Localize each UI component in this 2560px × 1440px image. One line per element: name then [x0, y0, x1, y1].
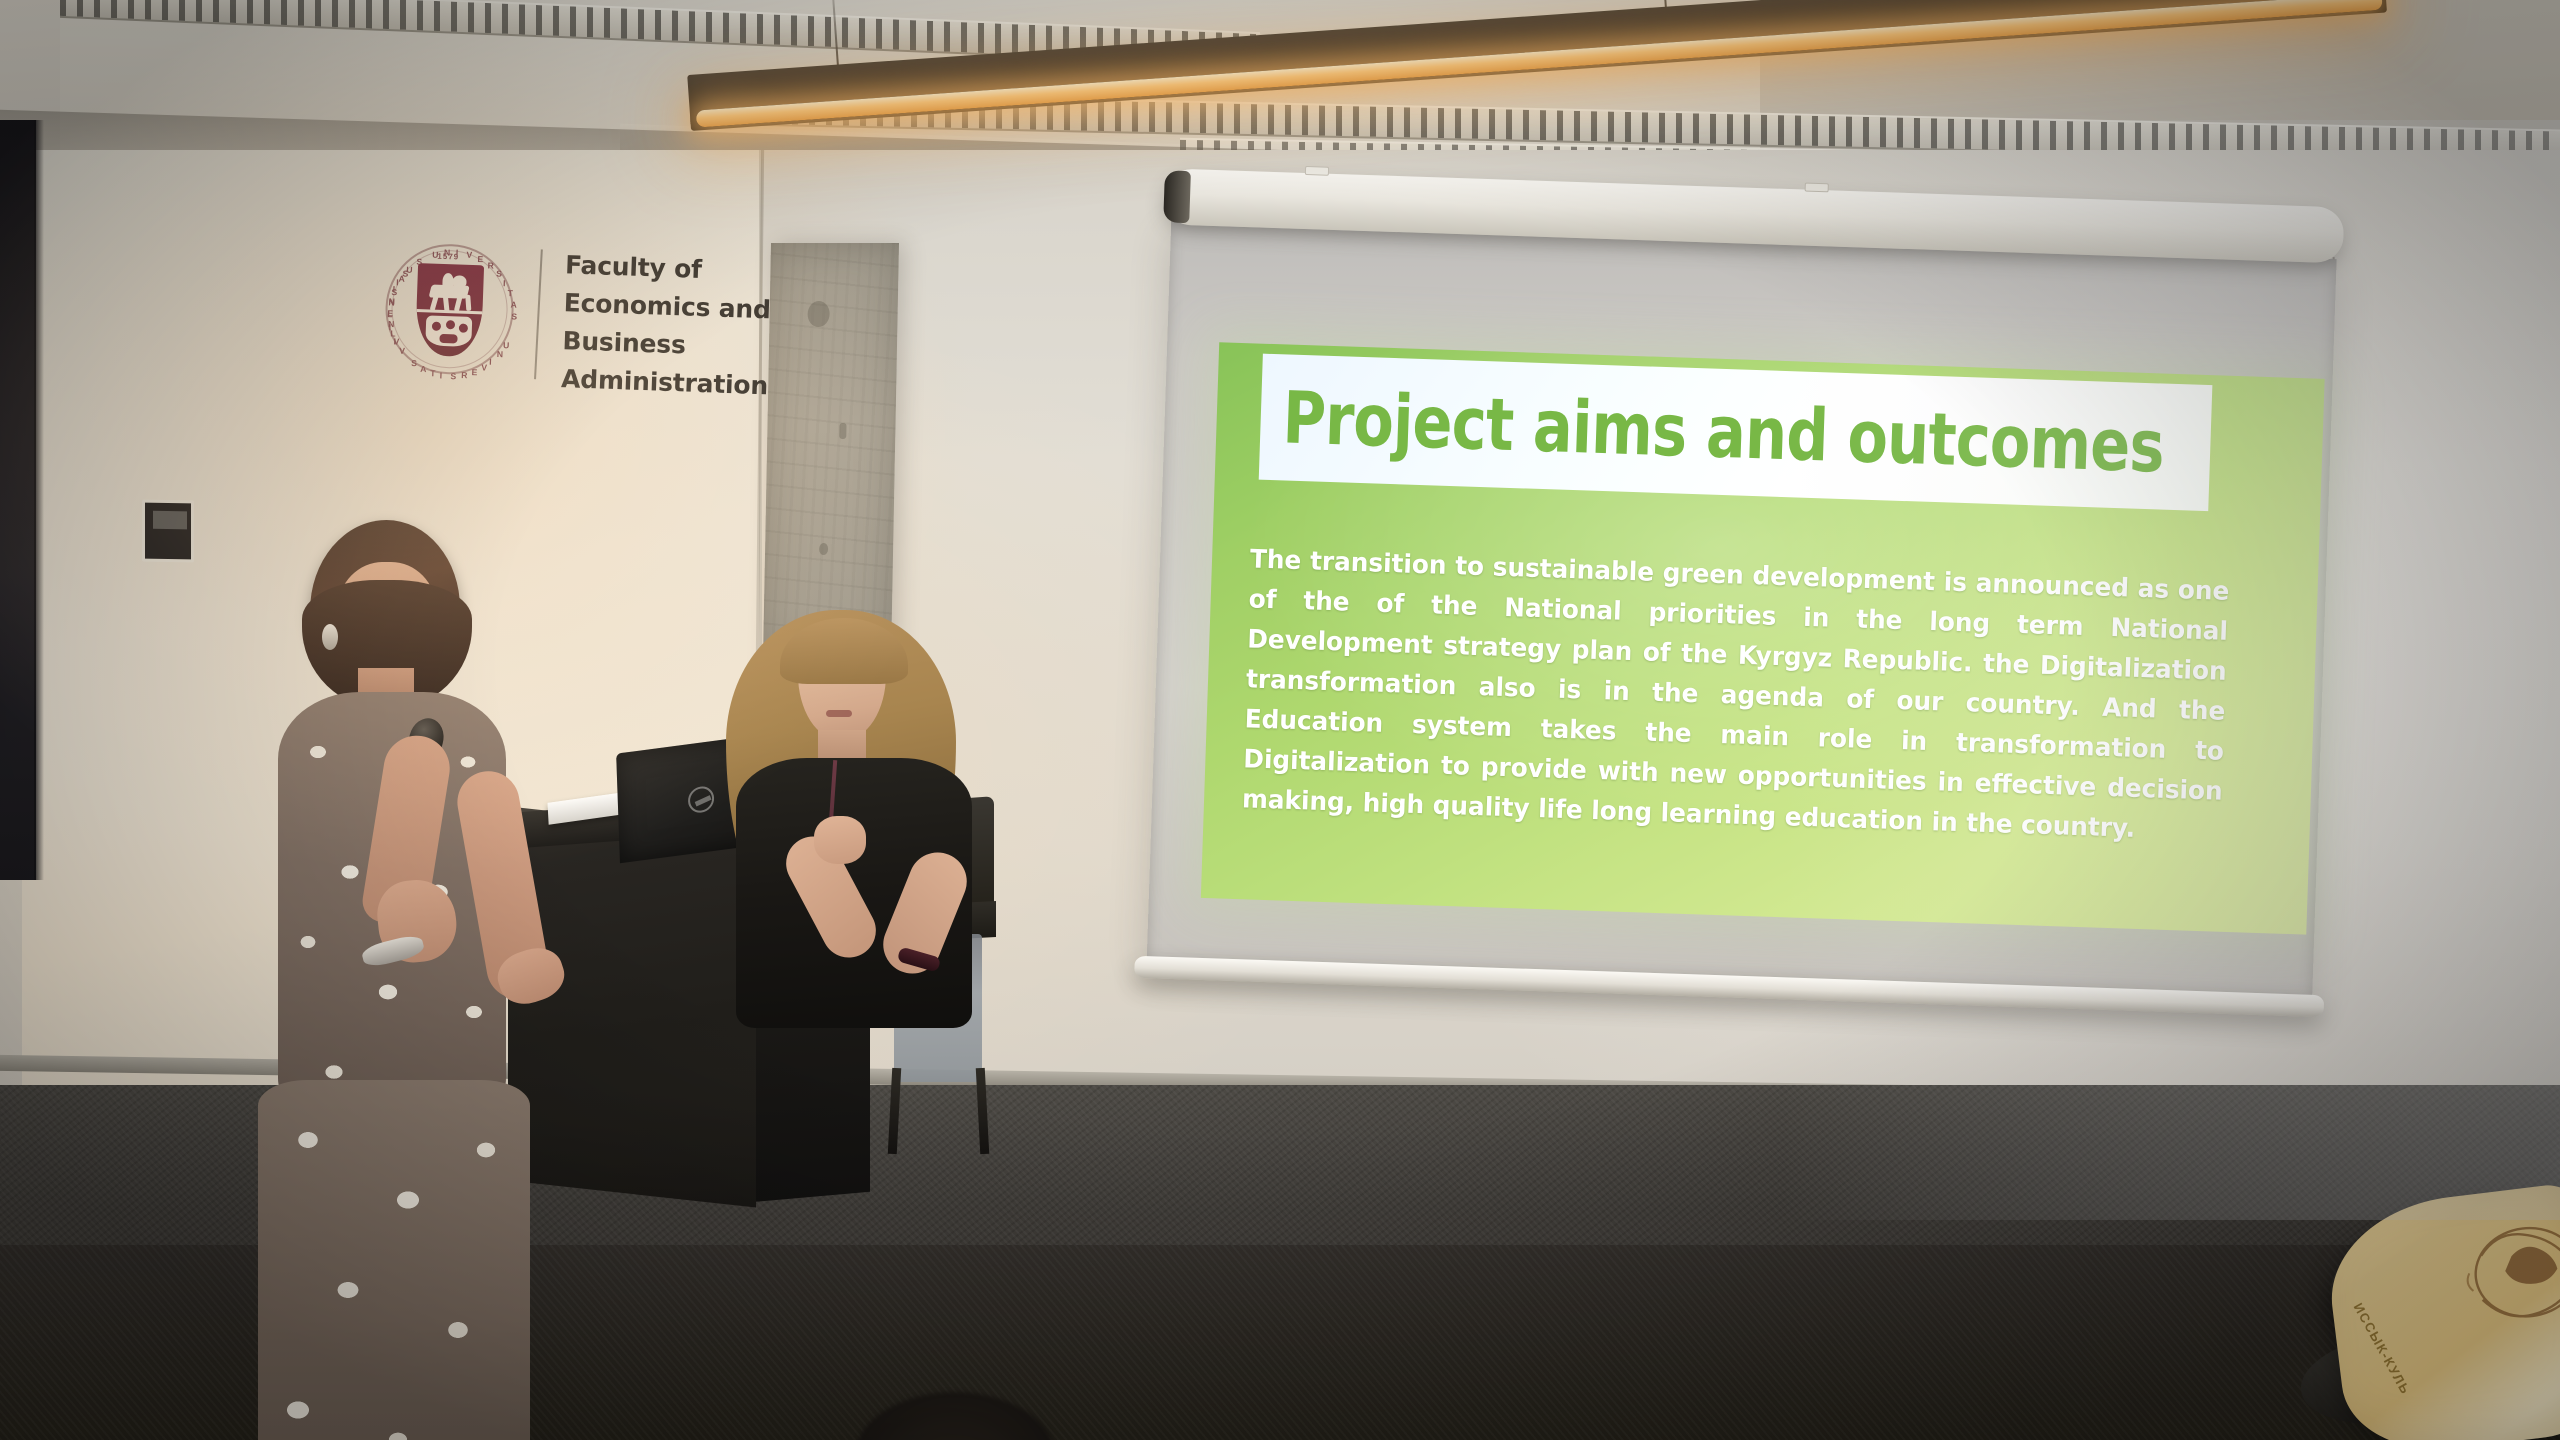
doorway-shadow: [34, 120, 44, 880]
seated-panelist: [718, 600, 988, 1020]
cloth-print-text: ИССЫК-КУЛЬ: [2351, 1300, 2414, 1397]
knight-on-horseback-icon: [426, 272, 475, 308]
ornament-print-icon: [2443, 1202, 2560, 1359]
screen-surface: Project aims and outcomes The transition…: [1147, 221, 2337, 999]
vilnius-university-sign: 1579 V I L N I A U S U N I V E R S I T A: [381, 238, 785, 442]
sign-divider: [534, 249, 543, 379]
slide-body-text: The transition to sustainable green deve…: [1241, 539, 2229, 851]
projection-screen: Project aims and outcomes The transition…: [1125, 168, 2399, 1109]
university-seal-icon: 1579 V I L N I A U S U N I V E R S I T A: [383, 242, 515, 376]
laptop-logo-icon: [688, 785, 715, 814]
wall-panel-jack: [142, 500, 194, 563]
speaker-at-microphone: [250, 520, 570, 1200]
presentation-room-photo: 1579 V I L N I A U S U N I V E R S I T A: [0, 0, 2560, 1440]
earring: [322, 624, 338, 650]
slide-title-band: Project aims and outcomes: [1259, 354, 2213, 511]
faculty-name: Faculty of Economics and Business Admini…: [561, 246, 796, 406]
floral-dress-skirt: [258, 1080, 530, 1440]
hand: [814, 816, 866, 864]
slide-title: Project aims and outcomes: [1281, 376, 2165, 487]
doorway: [0, 120, 36, 880]
faculty-line-3: Business Administration: [561, 322, 794, 406]
projected-slide: Project aims and outcomes The transition…: [1201, 342, 2325, 934]
gate-tower-icon: [425, 315, 472, 347]
